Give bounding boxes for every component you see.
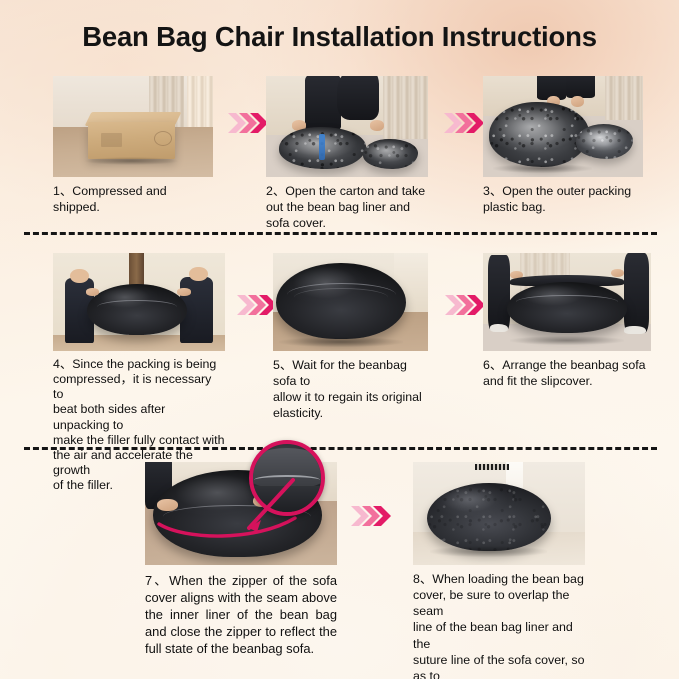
step-5-caption: 5、Wait for the beanbag sofa to allow it … bbox=[273, 357, 428, 422]
step-7-caption: 7、When the zipper of the sofa cover alig… bbox=[145, 572, 337, 657]
beanbag-expanded bbox=[276, 263, 406, 339]
step-8-photo bbox=[413, 462, 585, 565]
page-title: Bean Bag Chair Installation Instructions bbox=[0, 21, 679, 53]
step-6-caption: 6、Arrange the beanbag sofa and fit the s… bbox=[483, 357, 651, 389]
step-6: 6、Arrange the beanbag sofa and fit the s… bbox=[483, 253, 651, 389]
instruction-poster: Bean Bag Chair Installation Instructions… bbox=[0, 0, 679, 679]
step-5-photo bbox=[273, 253, 428, 351]
vacuum-bag-liner bbox=[279, 127, 366, 169]
vacuum-bag-cover bbox=[363, 139, 418, 169]
step-7: 7、When the zipper of the sofa cover alig… bbox=[145, 462, 337, 657]
secondary-bag bbox=[576, 124, 634, 158]
beanbag-finished bbox=[427, 483, 551, 551]
step-1-caption: 1、Compressed and shipped. bbox=[53, 183, 213, 215]
arrow-icon-4 bbox=[444, 292, 488, 318]
beanbag-compressed bbox=[87, 284, 187, 335]
step-1: 1、Compressed and shipped. bbox=[53, 76, 213, 215]
step-2-caption: 2、Open the carton and take out the bean … bbox=[266, 183, 428, 231]
step-8-caption: 8、When loading the bean bag cover, be su… bbox=[413, 571, 585, 679]
arrow-icon-5 bbox=[350, 503, 394, 529]
step-3-caption: 3、Open the outer packing plastic bag. bbox=[483, 183, 643, 215]
step-1-photo bbox=[53, 76, 213, 177]
outer-plastic-bag bbox=[489, 102, 588, 167]
step-8: 8、When loading the bean bag cover, be su… bbox=[413, 462, 585, 679]
step-5: 5、Wait for the beanbag sofa to allow it … bbox=[273, 253, 428, 422]
arrow-icon-1 bbox=[227, 110, 271, 136]
step-4: 4、Since the packing is being compressed，… bbox=[53, 253, 225, 493]
step-4-photo bbox=[53, 253, 225, 351]
step-2-photo bbox=[266, 76, 428, 177]
row-divider-1 bbox=[24, 232, 657, 235]
step-7-photo bbox=[145, 462, 337, 565]
step-2: 2、Open the carton and take out the bean … bbox=[266, 76, 428, 231]
beanbag-slipcover bbox=[507, 282, 628, 333]
step-3: 3、Open the outer packing plastic bag. bbox=[483, 76, 643, 215]
step-3-photo bbox=[483, 76, 643, 177]
step-6-photo bbox=[483, 253, 651, 351]
arrow-icon-2 bbox=[443, 110, 487, 136]
